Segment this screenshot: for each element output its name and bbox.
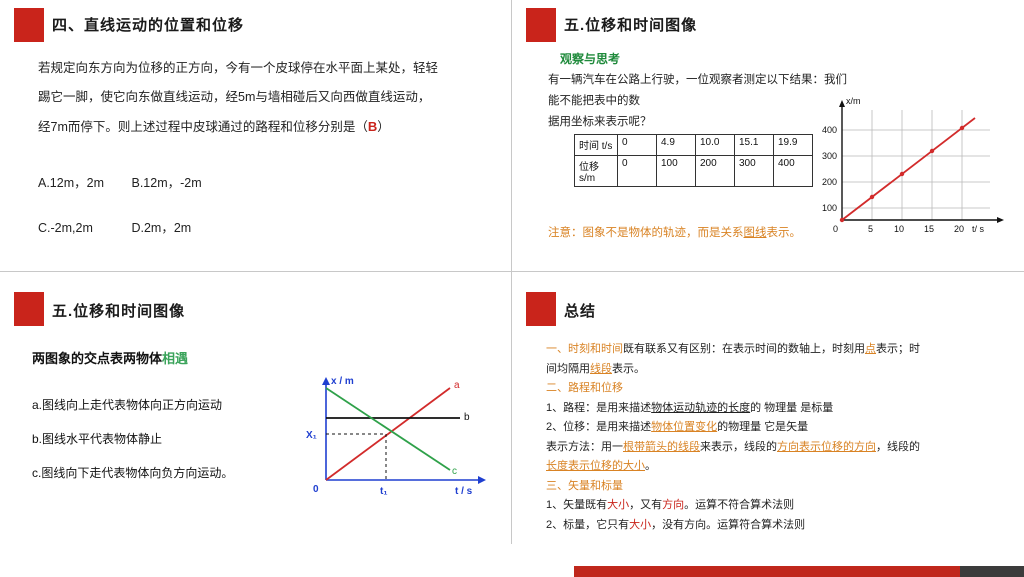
cell-s0: 0 [618,156,657,187]
summary-line-9: 1、矢量既有大小，又有方向。运算不符合算术法则 [546,496,1006,516]
chart-ytick-200: 200 [822,177,837,187]
summary-4-head: 1、路程：是用来描述 [546,402,651,414]
graph-t1-label: t₁ [380,486,387,497]
question-line-1: 若规定向东方向为位移的正方向，今有一个皮球停在水平面上某处，轻轻 [38,54,488,83]
intro-text: 有一辆汽车在公路上行驶，一位观察者测定以下结果：我们能不能把表中的数 据用坐标来… [548,70,848,133]
summary-10-red: 大小 [629,519,651,531]
chart-xtick-10: 10 [894,224,904,234]
summary-4-underline: 物体运动轨迹的长度 [651,402,750,414]
intro-text-line-1: 有一辆汽车在公路上行驶，一位观察者测定以下结果：我们能不能把表中的数 [548,70,848,112]
chart-origin-label: 0 [833,224,838,234]
cell-t4: 19.9 [774,135,813,156]
footer-red-bar [574,566,960,577]
summary-7-tail: 。 [645,460,656,472]
summary-line-10: 2、标量，它只有大小，没有方向。运算符合算术法则 [546,516,1006,536]
page-title: 四、直线运动的位置和位移 [52,14,244,35]
vertical-divider [511,0,512,544]
graph-x-axis-label: t / s [455,486,473,497]
note-underline: 图线 [744,227,767,239]
option-b[interactable]: B.12m，-2m [131,176,201,190]
summary-line-7: 长度表示位移的大小。 [546,457,1006,477]
horizontal-divider [0,271,1024,272]
row-header-displacement: 位移 s/m [575,156,618,187]
cell-s4: 400 [774,156,813,187]
section-subtitle: 观察与思考 [560,50,620,67]
answer-options: A.12m，2m B.12m，-2m C.-2m,2m D.2m，2m [38,172,488,262]
note-suffix: 表示。 [767,227,802,239]
footer-bar [0,544,1024,577]
summary-line-5: 2、位移：是用来描述物体位置变化的物理量 它是矢量 [546,418,1006,438]
summary-2-segment: 线段 [590,363,612,375]
cell-t3: 15.1 [735,135,774,156]
table-row: 时间 t/s 0 4.9 10.0 15.1 19.9 [575,135,813,156]
cell-t0: 0 [618,135,657,156]
summary-6-tail: ，线段的 [876,441,920,453]
position-time-graph: x / m t / s X₁ 0 t₁ a b c [300,372,500,502]
summary-9-tail: 。运算不符合算术法则 [684,499,794,511]
summary-10-head: 2、标量，它只有 [546,519,629,531]
page-title: 五.位移和时间图像 [52,300,185,321]
cell-t1: 4.9 [657,135,696,156]
slide-bottom-left: 五.位移和时间图像 两图象的交点表两物体相遇 a.图线向上走代表物体向正方向运动… [0,272,512,544]
option-row-2: C.-2m,2m D.2m，2m [38,217,488,236]
summary-line-8: 三、矢量和标量 [546,477,1006,497]
bullet-list: a.图线向上走代表物体向正方向运动 b.图线水平代表物体静止 c.图线向下走代表… [32,388,292,490]
summary-line-3: 二、路程和位移 [546,379,1006,399]
chart-ytick-300: 300 [822,151,837,161]
question-line-3-text: 经7m而停下。则上述过程中皮球通过的路程和位移分别是（ [38,120,368,134]
summary-6-head: 表示方法：用一 [546,441,623,453]
graph-y-axis-label: x / m [331,376,354,387]
lead-text-green: 相遇 [162,351,188,366]
question-line-3: 经7m而停下。则上述过程中皮球通过的路程和位移分别是（B） [38,112,488,142]
cell-s3: 300 [735,156,774,187]
summary-1-head: 一、时刻和时间 [546,343,623,355]
summary-body: 一、时刻和时间既有联系又有区别：在表示时间的数轴上，时刻用点表示；时 间均隔用线… [546,340,1006,535]
graph-origin-label: 0 [313,484,319,495]
cell-s1: 100 [657,156,696,187]
displacement-time-chart: x/m 100 200 300 400 0 5 10 15 20 t/ s [820,96,1010,246]
option-row-1: A.12m，2m B.12m，-2m [38,172,488,191]
bullet-a: a.图线向上走代表物体向正方向运动 [32,388,292,422]
chart-x-axis-label: t/ s [972,224,985,234]
graph-label-b: b [464,412,470,423]
summary-1-point: 点 [865,343,876,355]
summary-10-tail: ，没有方向。运算符合算术法则 [651,519,805,531]
summary-6-underline-2: 方向表示位移的方向 [777,441,876,453]
option-a[interactable]: A.12m，2m [38,172,128,191]
summary-1-tail: 表示；时 [876,343,920,355]
chart-xtick-15: 15 [924,224,934,234]
summary-2-head: 间均隔用 [546,363,590,375]
question-body: 若规定向东方向为位移的正方向，今有一个皮球停在水平面上某处，轻轻 踢它一脚，使它… [38,54,488,142]
summary-line-1: 一、时刻和时间既有联系又有区别：在表示时间的数轴上，时刻用点表示；时 [546,340,1006,360]
summary-1-text: 既有联系又有区别：在表示时间的数轴上，时刻用 [623,343,865,355]
graph-label-a: a [454,380,460,391]
chart-xtick-5: 5 [868,224,873,234]
row-header-time: 时间 t/s [575,135,618,156]
question-line-3-close: ） [377,120,390,134]
summary-9-red-1: 大小 [607,499,629,511]
bullet-b: b.图线水平代表物体静止 [32,422,292,456]
lead-text: 两图象的交点表两物体相遇 [32,348,188,367]
summary-9-head: 1、矢量既有 [546,499,607,511]
chart-ytick-400: 400 [822,125,837,135]
cell-t2: 10.0 [696,135,735,156]
graph-label-c: c [452,466,457,477]
page-title: 总结 [564,300,596,321]
bullet-c: c.图线向下走代表物体向负方向运动。 [32,456,292,490]
note-prefix: 注意：图象不是物体的轨迹，而是关系 [548,227,744,239]
summary-6-underline-1: 根带箭头的线段 [623,441,700,453]
intro-text-line-2: 据用坐标来表示呢？ [548,112,848,133]
summary-7-underline: 长度表示位移的大小 [546,460,645,472]
slide-bottom-right: 总结 一、时刻和时间既有联系又有区别：在表示时间的数轴上，时刻用点表示；时 间均… [512,272,1024,544]
summary-4-tail: 的 物理量 是标量 [750,402,833,414]
slide-top-right: 五.位移和时间图像 观察与思考 有一辆汽车在公路上行驶，一位观察者测定以下结果：… [512,0,1024,272]
summary-6-mid: 来表示，线段的 [700,441,777,453]
summary-2-tail: 表示。 [612,363,645,375]
title-accent-block [14,292,44,326]
summary-5-head: 2、位移：是用来描述 [546,421,651,433]
chart-ytick-100: 100 [822,203,837,213]
summary-line-6: 表示方法：用一根带箭头的线段来表示，线段的方向表示位移的方向，线段的 [546,438,1006,458]
summary-line-2: 间均隔用线段表示。 [546,360,1006,380]
option-c[interactable]: C.-2m,2m [38,221,128,235]
footer-dark-bar [960,566,1024,577]
slide-top-left: 四、直线运动的位置和位移 若规定向东方向为位移的正方向，今有一个皮球停在水平面上… [0,0,512,272]
summary-9-mid: ，又有 [629,499,662,511]
summary-9-red-2: 方向 [662,499,684,511]
table-row: 位移 s/m 0 100 200 300 400 [575,156,813,187]
chart-y-axis-label: x/m [846,96,861,106]
summary-5-tail: 的物理量 它是矢量 [717,421,808,433]
title-accent-block [526,8,556,42]
measurement-table: 时间 t/s 0 4.9 10.0 15.1 19.9 位移 s/m 0 100… [574,134,813,187]
summary-line-4: 1、路程：是用来描述物体运动轨迹的长度的 物理量 是标量 [546,399,1006,419]
summary-5-underline: 物体位置变化 [651,421,717,433]
title-accent-block [14,8,44,42]
question-line-2: 踢它一脚，使它向东做直线运动，经5m与墙相碰后又向西做直线运动， [38,83,488,112]
cell-s2: 200 [696,156,735,187]
option-d[interactable]: D.2m，2m [131,221,191,235]
graph-x1-label: X₁ [306,430,317,441]
title-accent-block [526,292,556,326]
answer-mark: B [368,119,377,134]
lead-text-black: 两图象的交点表两物体 [32,351,162,366]
page-title: 五.位移和时间图像 [564,14,697,35]
chart-xtick-20: 20 [954,224,964,234]
